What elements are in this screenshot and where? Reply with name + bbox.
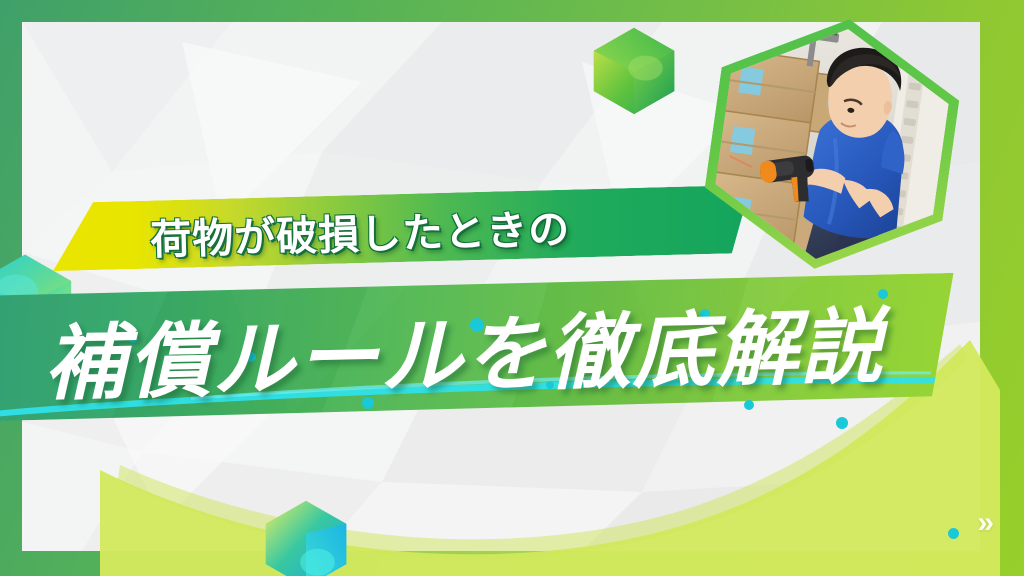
headline-line-2: 補償ルールを徹底解説 [43,279,945,416]
thumbnail-canvas: 荷物が破損したときの 補償ルールを徹底解説 [0,0,1024,576]
double-chevron-icon[interactable]: » [977,508,994,538]
warehouse-worker-illustration [707,14,957,274]
hexagon-photo [712,18,952,270]
warehouse-worker-photo [707,14,957,274]
